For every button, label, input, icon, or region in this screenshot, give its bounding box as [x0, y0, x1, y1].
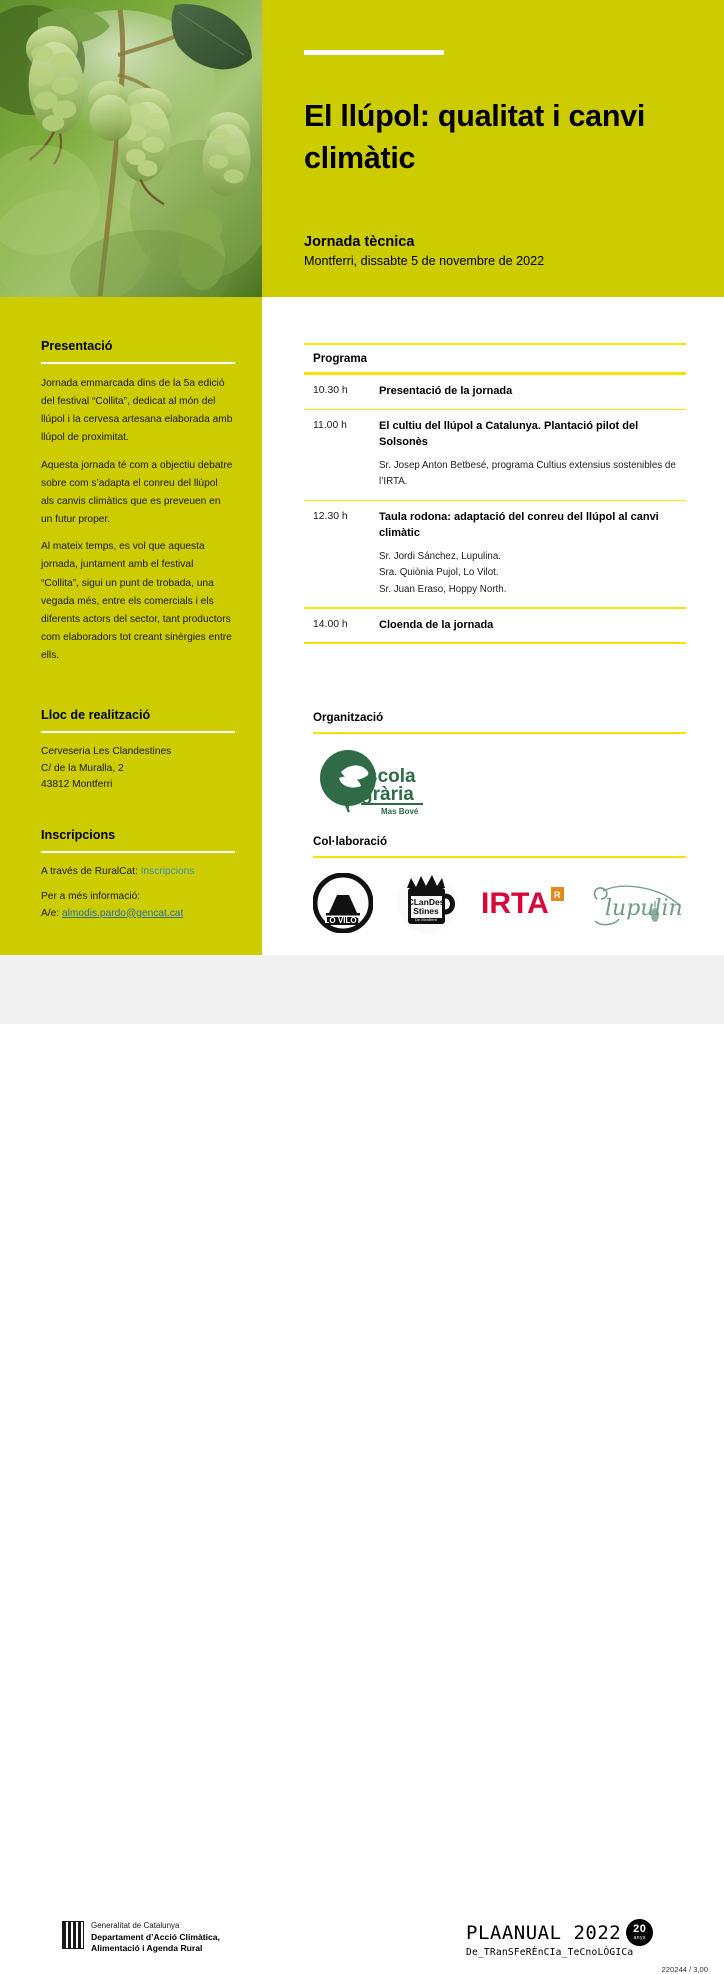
session-speaker: Sr. Juan Eraso, Hoppy North.	[379, 582, 686, 598]
session-title: Taula rodona: adaptació del conreu del l…	[379, 510, 686, 542]
session-time: 14.00 h	[313, 618, 379, 634]
inscripcions-heading: Inscripcions	[41, 828, 236, 842]
registration-link[interactable]: Inscripcions	[141, 866, 195, 877]
session-title: Cloenda de la jornada	[379, 618, 686, 634]
registration-prefix: A través de RuralCat:	[41, 866, 141, 877]
programa-bottom-rule	[304, 642, 686, 644]
pla-anual-logo: PLAANUAL 2022 20 anys De_TRanSFeRÈnCIa_T…	[466, 1919, 716, 1958]
generalitat-line1: Generalitat de Catalunya	[91, 1921, 220, 1932]
session-body: El cultiu del llúpol a Catalunya. Planta…	[379, 419, 686, 490]
page-title: El llúpol: qualitat i canvi climàtic	[304, 96, 684, 180]
generalitat-logo: Generalitat de Catalunya Departament d’A…	[62, 1921, 220, 1955]
presentacio-heading: Presentació	[41, 339, 236, 353]
venue-street: C/ de la Muralla, 2	[41, 761, 236, 778]
escola-agraria-mas-bove-logo: scola grària Mas Bové	[313, 748, 431, 825]
anys-number: 20	[633, 1924, 646, 1935]
pla-wordmark: PLAANUAL 2022	[466, 1922, 621, 1944]
session-speakers: Sr. Jordi Sánchez, Lupulina. Sra. Quiòni…	[379, 549, 686, 598]
programa-section: Programa 10.30 h Presentació de la jorna…	[304, 343, 686, 644]
anys-label: anys	[633, 1936, 646, 1941]
escola-line2: grària	[361, 784, 414, 805]
session-body: Presentació de la jornada	[379, 384, 686, 400]
lloc-heading: Lloc de realització	[41, 708, 236, 722]
organitzacio-logo-row: scola grària Mas Bové	[313, 734, 695, 825]
venue-name: Cerveseria Les Clandestines	[41, 744, 236, 761]
more-info-line: Per a més informació:A/e: almodis.pardo@…	[41, 889, 236, 922]
session-title: Presentació de la jornada	[379, 384, 686, 400]
document-reference: 220244 / 3,00	[662, 1965, 708, 1974]
inscripcions-section: Inscripcions A través de RuralCat: Inscr…	[41, 828, 236, 922]
clandestines-logo: CLanDes Stines De Montferri	[395, 872, 459, 939]
spacer	[41, 674, 236, 708]
lo-vilot-text: LO VILOT	[325, 916, 362, 925]
registration-line: A través de RuralCat: Inscripcions	[41, 864, 236, 880]
session-speaker: Sr. Josep Anton Betbesé, programa Cultiu…	[379, 458, 686, 491]
lupulina-wordmark: lupulina	[605, 896, 683, 921]
generalitat-shield-icon	[62, 1921, 84, 1949]
lo-vilot-logo: LO VILOT	[313, 873, 373, 938]
collaboracio-heading: Col·laboració	[313, 835, 695, 848]
left-sidebar: Presentació Jornada emmarcada dins de la…	[0, 297, 262, 955]
hero-band: El llúpol: qualitat i canvi climàtic Jor…	[0, 0, 724, 297]
organitzacio-heading: Organització	[313, 711, 695, 724]
anys-badge: 20 anys	[626, 1919, 653, 1946]
clandestines-line2: Stines	[413, 906, 439, 916]
venue-city: 43812 Montferri	[41, 777, 236, 794]
session-body: Taula rodona: adaptació del conreu del l…	[379, 510, 686, 598]
pla-main-row: PLAANUAL 2022 20 anys	[466, 1919, 716, 1946]
event-type-label: Jornada tècnica	[304, 234, 414, 250]
programa-row: 14.00 h Cloenda de la jornada	[304, 609, 686, 643]
inscripcions-divider	[41, 851, 235, 853]
title-accent-rule	[304, 50, 444, 55]
generalitat-text: Generalitat de Catalunya Departament d’A…	[91, 1921, 220, 1955]
clandestines-line3: De Montferri	[415, 917, 437, 922]
collaboracio-section: Col·laboració LO VILOT	[313, 835, 695, 939]
more-info-label: Per a més informació:	[41, 891, 140, 902]
hop-cones-photo	[0, 0, 262, 297]
irta-logo: IRTA R	[481, 881, 567, 930]
email-prefix: A/e:	[41, 908, 62, 919]
programa-heading: Programa	[304, 345, 686, 372]
pla-subtitle: De_TRanSFeRÈnCIa_TeCnoLÒGICa	[466, 1947, 716, 1958]
event-date-place: Montferri, dissabte 5 de novembre de 202…	[304, 254, 544, 268]
contact-email-link[interactable]: almodis.pardo@gencat.cat	[62, 908, 183, 919]
presentacio-section: Presentació Jornada emmarcada dins de la…	[41, 339, 236, 665]
presentacio-paragraph: Jornada emmarcada dins de la 5a edició d…	[41, 375, 233, 448]
programa-row: 12.30 h Taula rodona: adaptació del conr…	[304, 501, 686, 607]
session-body: Cloenda de la jornada	[379, 618, 686, 634]
lloc-divider	[41, 731, 235, 733]
programa-row: 10.30 h Presentació de la jornada	[304, 375, 686, 409]
irta-reg-mark: R	[554, 890, 561, 900]
generalitat-line3: Alimentació i Agenda Rural	[91, 1943, 220, 1955]
escola-line3: Mas Bové	[381, 807, 419, 816]
collaboracio-logo-row: LO VILOT CLanDes Stines De Montferri IR	[313, 858, 695, 939]
session-time: 10.30 h	[313, 384, 379, 400]
spacer	[41, 794, 236, 828]
generalitat-line2: Departament d’Acció Climàtica,	[91, 1932, 220, 1944]
presentacio-paragraph: Al mateix temps, es vol que aquesta jorn…	[41, 538, 233, 665]
lloc-section: Lloc de realització Cerveseria Les Cland…	[41, 708, 236, 794]
presentacio-paragraph: Aquesta jornada té com a objectiu debatr…	[41, 457, 233, 530]
session-time: 12.30 h	[313, 510, 379, 598]
session-time: 11.00 h	[313, 419, 379, 490]
page-footer: Generalitat de Catalunya Departament d’A…	[0, 955, 724, 1024]
session-speaker: Sra. Quiònia Pujol, Lo Vilot.	[379, 565, 686, 581]
presentacio-divider	[41, 362, 235, 364]
session-speaker: Sr. Jordi Sánchez, Lupulina.	[379, 549, 686, 565]
organitzacio-section: Organització scola grària Mas Bové	[313, 711, 695, 825]
irta-wordmark: IRTA	[481, 887, 549, 920]
lupulina-logo: lupulina	[589, 877, 683, 934]
programa-row: 11.00 h El cultiu del llúpol a Catalunya…	[304, 410, 686, 499]
session-title: El cultiu del llúpol a Catalunya. Planta…	[379, 419, 686, 451]
hero-text-block: El llúpol: qualitat i canvi climàtic Jor…	[304, 0, 704, 297]
